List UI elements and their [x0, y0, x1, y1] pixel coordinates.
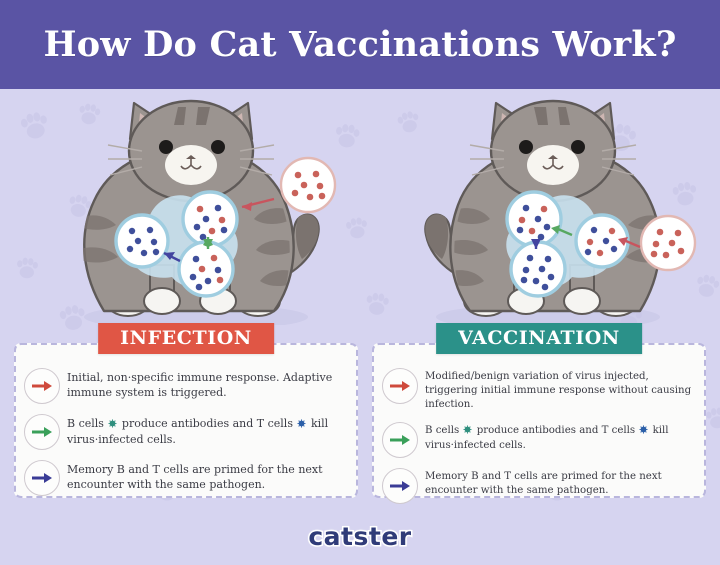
bullet-item: B cells produce antibodies and T cells k… — [24, 413, 346, 450]
bullet-list-infection: Initial, non·specific immune response. A… — [16, 367, 356, 496]
panel-title-infection: INFECTION — [98, 323, 274, 354]
infection-cat-illustration — [46, 89, 346, 330]
catster-logo[interactable]: catster — [308, 522, 411, 551]
bullet-text: B cells produce antibodies and T cells k… — [67, 413, 346, 447]
comparison-panels: INFECTION Initial, non·specific immune r… — [0, 333, 720, 508]
t-cell-icon — [639, 425, 648, 439]
bullet-item: Memory B and T cells are primed for the … — [24, 459, 346, 496]
bullet-arrow-badge — [382, 368, 418, 404]
bullet-text: Initial, non·specific immune response. A… — [67, 367, 346, 400]
cell-cluster-response — [179, 242, 233, 296]
illustration-area — [0, 89, 720, 325]
bullet-item: Modified/benign variation of virus injec… — [382, 367, 694, 412]
t-cell-icon — [297, 417, 306, 432]
panel-title-vaccination: VACCINATION — [436, 323, 642, 354]
bullet-arrow-badge — [24, 460, 60, 496]
b-cell-icon — [463, 425, 472, 439]
virus-particle-external — [281, 158, 335, 212]
header-banner: How Do Cat Vaccinations Work? — [0, 0, 720, 89]
page-title: How Do Cat Vaccinations Work? — [43, 24, 676, 65]
bullet-list-vaccination: Modified/benign variation of virus injec… — [374, 367, 704, 504]
bullet-text: Modified/benign variation of virus injec… — [425, 367, 694, 412]
cell-cluster-infected — [183, 192, 237, 246]
vaccination-cat-illustration — [398, 89, 698, 330]
cell-cluster-response — [511, 242, 565, 296]
bullet-item: Initial, non·specific immune response. A… — [24, 367, 346, 404]
virus-particle-injected — [641, 216, 695, 270]
bullet-text: B cells produce antibodies and T cells k… — [425, 421, 694, 453]
cell-cluster-infected — [507, 192, 561, 246]
bullet-arrow-badge — [24, 414, 60, 450]
bullet-arrow-badge — [24, 368, 60, 404]
bullet-item: B cells produce antibodies and T cells k… — [382, 421, 694, 458]
bullet-text: Memory B and T cells are primed for the … — [67, 459, 346, 492]
panel-infection: INFECTION Initial, non·specific immune r… — [14, 343, 358, 498]
panel-vaccination: VACCINATION Modified/benign variation of… — [372, 343, 706, 498]
b-cell-icon — [108, 417, 117, 432]
footer: catster — [0, 508, 720, 565]
cell-cluster-memory — [116, 215, 168, 267]
bullet-arrow-badge — [382, 468, 418, 504]
bullet-arrow-badge — [382, 422, 418, 458]
bullet-item: Memory B and T cells are primed for the … — [382, 467, 694, 504]
infographic-root: How Do Cat Vaccinations Work? — [0, 0, 720, 565]
bullet-text: Memory B and T cells are primed for the … — [425, 467, 694, 498]
